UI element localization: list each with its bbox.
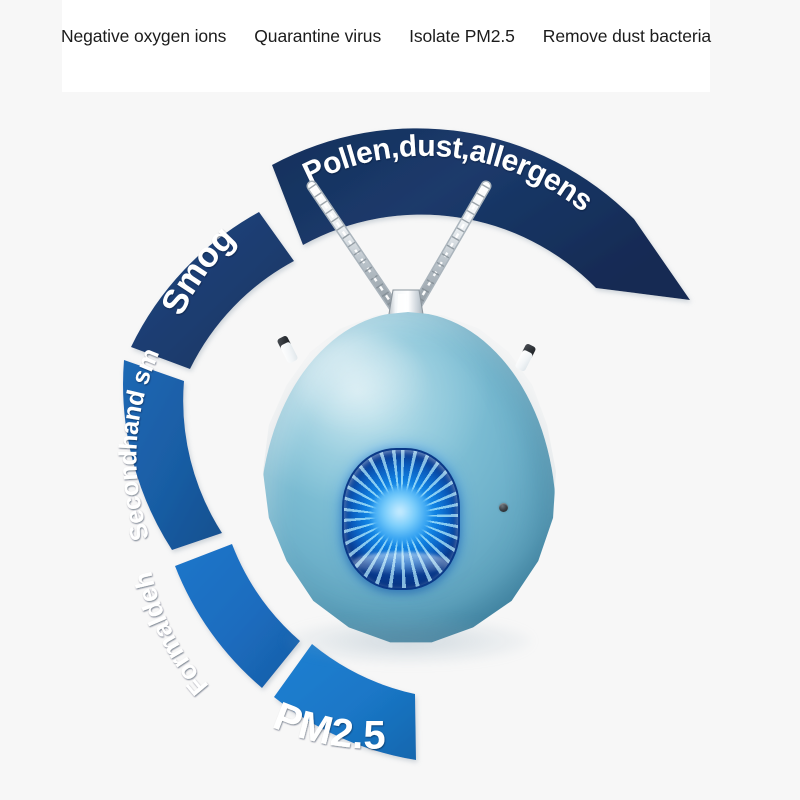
arc-segment-secondhand-smoke[interactable]	[123, 360, 222, 550]
feature-isolate-pm25: Isolate PM2.5	[409, 28, 515, 46]
glow-sheen	[353, 552, 449, 574]
arc-label-pm25: PM2.5	[268, 694, 386, 758]
feature-negative-oxygen-ions: Negative oxygen ions	[61, 28, 226, 46]
feature-remove-dust-bacteria: Remove dust bacteria	[543, 28, 711, 46]
chain-strand-right	[414, 186, 486, 310]
device-drop-shadow	[284, 618, 532, 664]
chain-strand-left	[312, 186, 396, 310]
ionizer-glow-window[interactable]	[342, 448, 460, 590]
feature-list: Negative oxygen ions Quarantine virus Is…	[61, 28, 711, 46]
feature-quarantine-virus: Quarantine virus	[254, 28, 381, 46]
sensor-dot-icon	[499, 503, 508, 512]
feature-banner: Negative oxygen ions Quarantine virus Is…	[62, 0, 710, 92]
glow-core	[372, 487, 430, 543]
arc-label-smog: Smog	[154, 219, 242, 321]
arc-label-formaldehyde: Formaldehyde	[0, 0, 214, 701]
product-image	[236, 186, 576, 676]
product-infographic-page: Negative oxygen ions Quarantine virus Is…	[0, 0, 800, 800]
